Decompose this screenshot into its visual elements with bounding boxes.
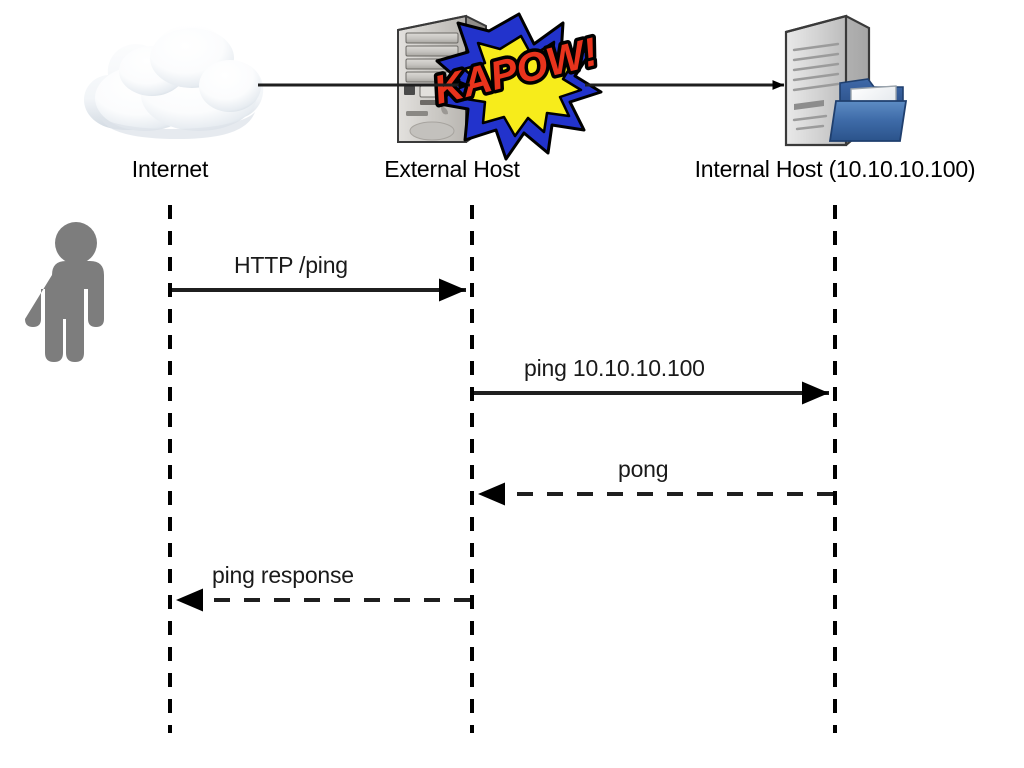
participant-label-internet: Internet bbox=[90, 156, 250, 183]
user-actor-icon bbox=[25, 222, 104, 362]
cloud-icon bbox=[84, 24, 263, 139]
message-label-ping-response: ping response bbox=[212, 562, 354, 589]
participant-label-internal-host: Internal Host (10.10.10.100) bbox=[650, 156, 1020, 183]
message-label-pong: pong bbox=[618, 456, 668, 483]
message-label-http-ping: HTTP /ping bbox=[234, 252, 348, 279]
sequence-diagram-canvas: KAPOW! KAPOW! bbox=[0, 0, 1024, 768]
lifelines-group bbox=[170, 205, 835, 733]
participant-label-external-host: External Host bbox=[362, 156, 542, 183]
message-label-ping-ip: ping 10.10.10.100 bbox=[524, 355, 705, 382]
server-folder-icon bbox=[786, 16, 906, 145]
